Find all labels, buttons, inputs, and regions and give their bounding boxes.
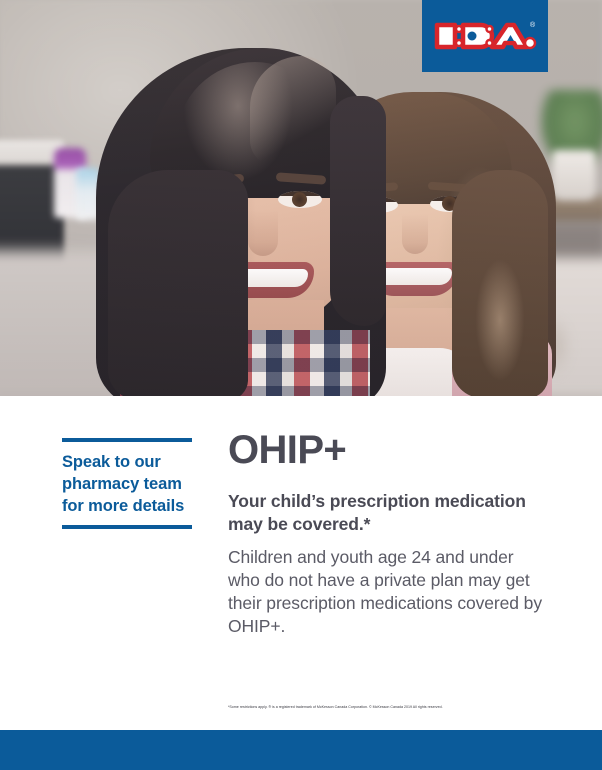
- cta-column: Speak to our pharmacy team for more deta…: [62, 438, 194, 529]
- photo-background-plant-pot: [552, 150, 596, 200]
- cta-text: Speak to our pharmacy team for more deta…: [62, 452, 194, 517]
- page-title: OHIP+: [228, 430, 548, 470]
- cta-rule-bottom: [62, 525, 192, 529]
- woman-hair-side-right: [330, 96, 386, 326]
- footer-bar: [0, 730, 602, 770]
- woman-nose: [248, 210, 278, 256]
- girl-nose: [402, 214, 428, 254]
- woman-hair-over-shoulder: [108, 170, 248, 396]
- legal-fineprint: *Some restrictions apply. ® is a registe…: [228, 706, 568, 710]
- girl-hair-strand-highlight: [470, 240, 530, 396]
- subheadline: Your child’s prescription medication may…: [228, 490, 548, 536]
- content-area: Speak to our pharmacy team for more deta…: [0, 396, 602, 730]
- cta-rule-top: [62, 438, 192, 442]
- body-copy: Children and youth age 24 and under who …: [228, 546, 548, 638]
- ida-logo: ®: [422, 0, 548, 72]
- svg-text:®: ®: [530, 21, 536, 29]
- woman-iris-right: [292, 192, 307, 207]
- message-column: OHIP+ Your child’s prescription medicati…: [228, 430, 548, 638]
- woman-eye-right: [278, 191, 322, 208]
- woman-hair-part: [250, 56, 336, 166]
- ida-logo-icon: ®: [432, 15, 538, 57]
